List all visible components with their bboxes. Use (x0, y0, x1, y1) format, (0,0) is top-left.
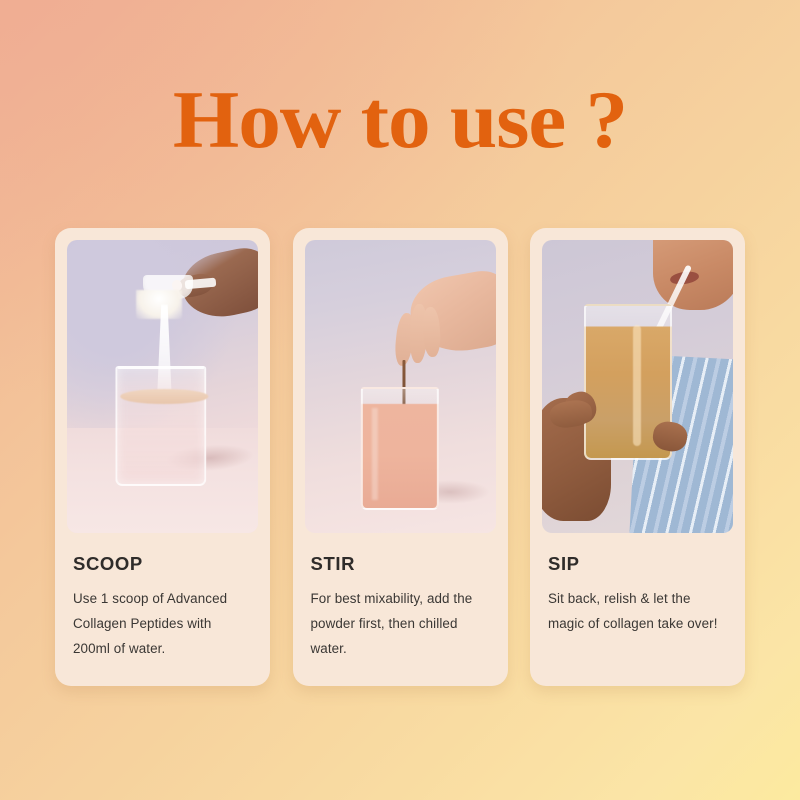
step-description: Use 1 scoop of Advanced Collagen Peptide… (73, 586, 252, 661)
step-image-scoop (67, 240, 258, 533)
step-title: SIP (548, 553, 727, 575)
step-image-stir (305, 240, 496, 533)
water-glass-shape (115, 366, 207, 486)
step-title: STIR (311, 553, 490, 575)
step-card-scoop[interactable]: SCOOP Use 1 scoop of Advanced Collagen P… (55, 228, 270, 686)
step-title: SCOOP (73, 553, 252, 575)
page-title-container: How to use ? (0, 78, 800, 162)
steps-card-list: SCOOP Use 1 scoop of Advanced Collagen P… (55, 228, 745, 686)
drink-glass-shape (361, 387, 439, 510)
powder-surface-shape (121, 389, 209, 404)
step-image-sip (542, 240, 733, 533)
step-description: For best mixability, add the powder firs… (311, 586, 490, 661)
glass-highlight (633, 325, 641, 446)
how-to-use-panel: How to use ? SCOOP Use 1 scoop of Advanc… (0, 0, 800, 800)
step-card-sip[interactable]: SIP Sit back, relish & let the magic of … (530, 228, 745, 686)
step-text-stir: STIR For best mixability, add the powder… (305, 533, 496, 661)
step-text-scoop: SCOOP Use 1 scoop of Advanced Collagen P… (67, 533, 258, 661)
page-title: How to use ? (0, 78, 800, 162)
step-description: Sit back, relish & let the magic of coll… (548, 586, 727, 636)
step-card-stir[interactable]: STIR For best mixability, add the powder… (293, 228, 508, 686)
powder-cloud-shape (136, 290, 182, 319)
step-text-sip: SIP Sit back, relish & let the magic of … (542, 533, 733, 636)
